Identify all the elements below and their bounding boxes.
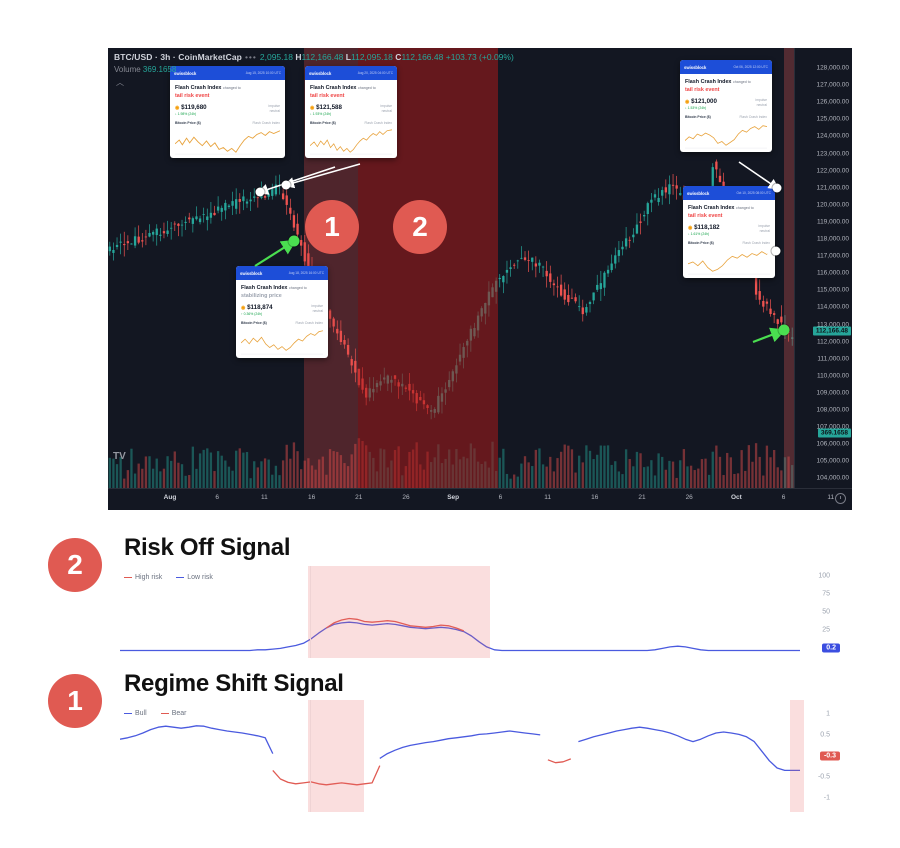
ohlc-low: 112,095.18	[351, 52, 393, 62]
alert-state: tail risk event	[685, 86, 767, 94]
brand-name: swissblock	[240, 271, 262, 276]
price-axis-badge: 112,166.48	[813, 327, 851, 336]
price-axis-label: 116,000.00	[817, 270, 849, 277]
regime-shift-title: Regime Shift Signal	[124, 670, 344, 698]
alert-date: Oct 10, 2025 08:00 UTC	[736, 191, 771, 195]
alert-state: stabilizing price	[241, 292, 323, 300]
meta-bottom: neutral	[268, 109, 280, 114]
alert-card-body: Flash Crash Index changed to tail risk e…	[680, 74, 772, 152]
brand-name: swissblock	[687, 191, 709, 196]
warning-icon: ◉	[175, 105, 179, 111]
alert-meta: impulse neutral	[758, 224, 770, 234]
alert-card-3[interactable]: swissblock Oct 06, 2025 12:00 UTC Flash …	[680, 60, 772, 152]
time-axis-label: 26	[686, 494, 693, 501]
alert-date: Aug 18, 2025 16:00 UTC	[289, 271, 324, 275]
alert-change: ↑ 0.36% (24h)	[241, 312, 273, 317]
alert-card-header: swissblock Oct 10, 2025 08:00 UTC	[683, 186, 775, 200]
regime-band-1	[308, 700, 364, 812]
alert-price: ◉ $121,588	[310, 104, 342, 112]
time-axis-label: 21	[638, 494, 645, 501]
sparkline-chart	[175, 127, 280, 155]
alert-card-2[interactable]: swissblock Aug 20, 2025 04:00 UTC Flash …	[305, 66, 397, 158]
price-axis-label: 106,000.00	[816, 441, 849, 448]
price-axis-label: 104,000.00	[816, 475, 849, 482]
axis-tick-label: 1	[826, 711, 830, 718]
price-axis-label: 114,000.00	[817, 304, 849, 311]
time-axis-label: 6	[499, 494, 503, 501]
time-axis-label: 16	[308, 494, 315, 501]
axis-tick-label: 0.5	[820, 732, 830, 739]
alert-card-header: swissblock Aug 20, 2025 04:00 UTC	[305, 66, 397, 80]
collapse-pane-icon[interactable]: ︿	[114, 77, 126, 87]
price-axis-label: 117,000.00	[817, 253, 849, 260]
signal-badge-2: 2	[48, 538, 102, 592]
ohlc-open: 2,095.18	[260, 52, 293, 62]
spark-left-label: Bitcoin Price ($)	[241, 321, 267, 325]
alert-change: ↓ 1.98% (24h)	[175, 112, 207, 117]
sparkline-chart	[685, 121, 767, 149]
alert-title: Flash Crash Index changed to	[175, 85, 280, 92]
regime-shift-current-badge: -0.3	[820, 752, 840, 761]
alert-state: tail risk event	[310, 92, 392, 100]
price-axis-label: 111,000.00	[817, 355, 849, 362]
axis-tick-label: -1	[824, 795, 830, 802]
marker-dot-stabilizing	[289, 236, 300, 247]
alert-title: Flash Crash Index changed to	[685, 79, 767, 86]
alert-card-4[interactable]: swissblock Oct 10, 2025 08:00 UTC Flash …	[683, 186, 775, 278]
alert-price: ◉ $119,680	[175, 104, 207, 112]
price-axis-label: 126,000.00	[816, 99, 849, 106]
ohlc-close: 112,166.48	[401, 52, 443, 62]
time-axis-label: 11	[544, 494, 551, 501]
axis-tick-label: 75	[822, 591, 830, 598]
alert-card-header: swissblock Aug 15, 2025 10:00 UTC	[170, 66, 285, 80]
alert-change: ↓ 1.61% (24h)	[688, 232, 720, 237]
brand-name: swissblock	[309, 71, 331, 76]
warning-icon: ◉	[310, 105, 314, 111]
time-axis-label: 11	[827, 494, 834, 501]
spark-left-label: Bitcoin Price ($)	[685, 115, 711, 119]
alert-date: Aug 20, 2025 04:00 UTC	[358, 71, 393, 75]
alert-card-5[interactable]: swissblock Aug 18, 2025 16:00 UTC Flash …	[236, 266, 328, 358]
brand-name: swissblock	[684, 65, 706, 70]
more-options-icon[interactable]: •••	[245, 52, 257, 62]
alert-card-body: Flash Crash Index changed to stabilizing…	[236, 280, 328, 358]
price-axis-label: 112,000.00	[817, 338, 849, 345]
sparkline-chart	[310, 127, 392, 155]
time-axis-label: 6	[215, 494, 219, 501]
alert-change: ↓ 1.93% (24h)	[310, 112, 342, 117]
spark-right-label: Flash Crash Index	[742, 241, 770, 245]
symbol-label: BTC/USD · 3h · CoinMarketCap	[114, 52, 242, 62]
alert-state: tail risk event	[175, 92, 280, 100]
alert-title: Flash Crash Index changed to	[688, 205, 770, 212]
price-axis-label: 109,000.00	[816, 389, 849, 396]
volume-histogram	[108, 428, 794, 488]
risk-off-band-2	[364, 566, 490, 658]
volume-header: Volume 369.1658	[114, 64, 176, 75]
risk-off-signal-panel: 2 Risk Off Signal High risk Low risk 100…	[0, 522, 900, 658]
volume-axis-badge: 369.1658	[818, 429, 851, 438]
regime-shift-signal-panel: 1 Regime Shift Signal Bull Bear 10.50-0.…	[0, 652, 900, 812]
price-axis-label: 105,000.00	[816, 458, 849, 465]
time-axis-label: 21	[355, 494, 362, 501]
axis-tick-label: -0.5	[818, 774, 830, 781]
alert-price: ◉ $121,000	[685, 98, 717, 106]
marker-dot-card2	[282, 181, 291, 190]
ohlc-change: +103.73 (+0.09%)	[446, 52, 514, 62]
volume-value: 369.1658	[143, 65, 176, 74]
time-axis[interactable]: Aug611162126Sep611162126Oct611	[108, 488, 852, 510]
price-axis-label: 115,000.00	[817, 287, 849, 294]
marker-dot-card3	[773, 184, 782, 193]
warning-icon: ◉	[685, 99, 689, 105]
risk-off-plot[interactable]	[120, 566, 800, 658]
alert-meta: impulse neutral	[755, 98, 767, 108]
alert-price: ◉ $118,182	[688, 224, 720, 232]
alert-meta: impulse neutral	[311, 304, 323, 314]
sparkline-chart	[241, 327, 323, 355]
chart-plot-area[interactable]: swissblock Aug 15, 2025 10:00 UTC Flash …	[108, 48, 794, 488]
spark-left-label: Bitcoin Price ($)	[688, 241, 714, 245]
time-axis-label: Aug	[164, 494, 177, 501]
time-axis-label: 26	[402, 494, 409, 501]
spark-left-label: Bitcoin Price ($)	[175, 121, 201, 125]
time-axis-label: Oct	[731, 494, 742, 501]
marker-dot-card4	[772, 247, 781, 256]
price-axis[interactable]: 128,000.00127,000.00126,000.00125,000.00…	[794, 48, 852, 488]
alert-card-body: Flash Crash Index changed to tail risk e…	[305, 80, 397, 158]
time-axis-label: 16	[591, 494, 598, 501]
marker-dot-card1	[256, 188, 265, 197]
volume-label: Volume	[114, 65, 141, 74]
regime-shift-plot[interactable]	[120, 700, 800, 812]
alert-meta: impulse neutral	[268, 104, 280, 114]
alert-state: tail risk event	[688, 212, 770, 220]
alert-card-body: Flash Crash Index changed to tail risk e…	[170, 80, 285, 158]
price-axis-label: 108,000.00	[816, 407, 849, 414]
price-axis-label: 125,000.00	[816, 116, 849, 123]
risk-off-title: Risk Off Signal	[124, 534, 290, 562]
alert-price: ◉ $118,874	[241, 304, 273, 312]
risk-off-axis: 100755025 0.2	[800, 566, 860, 658]
risk-off-band-1	[308, 566, 364, 658]
regime-shift-series	[120, 700, 800, 812]
brand-name: swissblock	[174, 71, 196, 76]
alert-card-header: swissblock Aug 18, 2025 16:00 UTC	[236, 266, 328, 280]
price-axis-label: 110,000.00	[817, 372, 849, 379]
price-axis-label: 118,000.00	[817, 236, 849, 243]
alert-title: Flash Crash Index changed to	[241, 285, 323, 292]
chart-marker-badge-1: 1	[305, 200, 359, 254]
price-axis-label: 124,000.00	[816, 133, 849, 140]
spark-right-label: Flash Crash Index	[364, 121, 392, 125]
tradingview-watermark-icon: TV	[113, 451, 126, 462]
meta-bottom: neutral	[311, 309, 323, 314]
alert-card-header: swissblock Oct 06, 2025 12:00 UTC	[680, 60, 772, 74]
warning-icon: ◉	[688, 225, 692, 231]
alert-card-body: Flash Crash Index changed to tail risk e…	[683, 200, 775, 278]
meta-bottom: neutral	[380, 109, 392, 114]
price-axis-label: 123,000.00	[816, 150, 849, 157]
spark-right-label: Flash Crash Index	[295, 321, 323, 325]
symbol-ohlc-header: BTC/USD · 3h · CoinMarketCap•••2,095.18 …	[114, 51, 514, 63]
price-axis-label: 122,000.00	[816, 167, 849, 174]
clock-icon[interactable]	[835, 493, 846, 504]
alert-date: Oct 06, 2025 12:00 UTC	[733, 65, 768, 69]
time-axis-label: 11	[261, 494, 268, 501]
alert-meta: impulse neutral	[380, 104, 392, 114]
price-axis-label: 120,000.00	[816, 201, 849, 208]
regime-shift-axis: 10.50-0.5-1 -0.3	[800, 700, 860, 812]
axis-tick-label: 25	[822, 627, 830, 634]
warning-icon: ◉	[241, 305, 245, 311]
axis-tick-label: 100	[818, 573, 830, 580]
alert-title: Flash Crash Index changed to	[310, 85, 392, 92]
ohlc-high: 112,166.48	[302, 52, 344, 62]
tradingview-chart-panel[interactable]: swissblock Aug 15, 2025 10:00 UTC Flash …	[108, 48, 852, 510]
meta-bottom: neutral	[755, 103, 767, 108]
spark-right-label: Flash Crash Index	[252, 121, 280, 125]
spark-right-label: Flash Crash Index	[739, 115, 767, 119]
price-axis-label: 127,000.00	[816, 82, 849, 89]
price-axis-label: 128,000.00	[816, 65, 849, 72]
alert-card-1[interactable]: swissblock Aug 15, 2025 10:00 UTC Flash …	[170, 66, 285, 158]
chart-marker-badge-2: 2	[393, 200, 447, 254]
sparkline-chart	[688, 247, 770, 275]
alert-date: Aug 15, 2025 10:00 UTC	[246, 71, 281, 75]
marker-dot-current	[779, 325, 790, 336]
axis-tick-label: 50	[822, 609, 830, 616]
spark-left-label: Bitcoin Price ($)	[310, 121, 336, 125]
alert-change: ↓ 1.53% (24h)	[685, 106, 717, 111]
price-axis-label: 119,000.00	[817, 218, 849, 225]
time-axis-label: 6	[782, 494, 786, 501]
price-axis-label: 121,000.00	[816, 184, 849, 191]
signal-badge-1: 1	[48, 674, 102, 728]
time-axis-label: Sep	[447, 494, 459, 501]
meta-bottom: neutral	[758, 229, 770, 234]
